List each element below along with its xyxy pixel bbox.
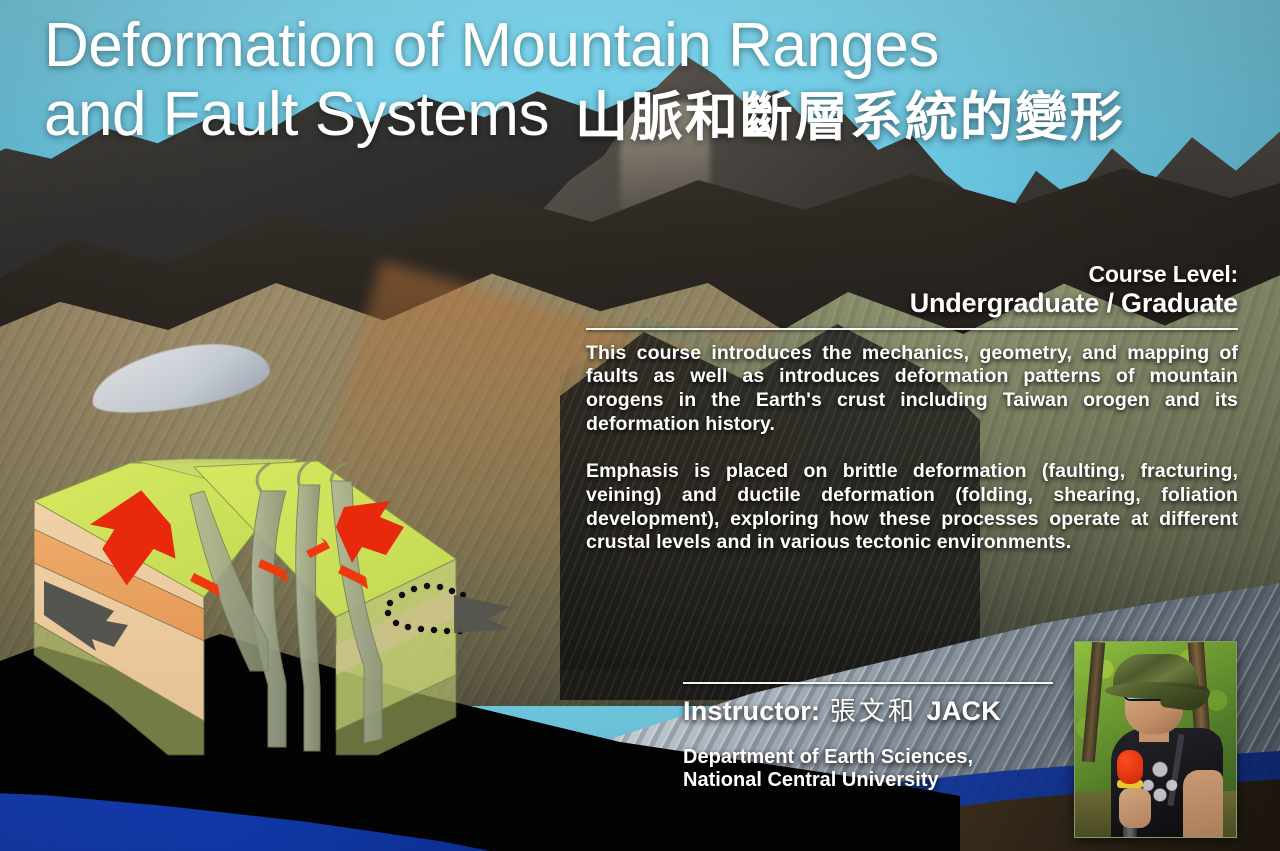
department-block: Department of Earth Sciences, National C… <box>683 746 1053 792</box>
instructor-block: Instructor: 張文和 JACK Department of Earth… <box>683 682 1053 792</box>
instructor-photo <box>1074 641 1237 838</box>
title-chinese: 山脈和斷層系統的變形 <box>575 87 1125 148</box>
description-paragraph-1: This course introduces the mechanics, ge… <box>586 342 1238 437</box>
instructor-name-english: JACK <box>927 696 1001 726</box>
course-poster: Deformation of Mountain Ranges and Fault… <box>0 0 1280 851</box>
title-line-2-row: and Fault Systems山脈和斷層系統的變形 <box>44 83 1264 146</box>
title-line-2: and Fault Systems <box>44 80 549 149</box>
instructor-name-chinese: 張文和 <box>828 697 919 727</box>
info-divider-rule <box>586 328 1238 330</box>
course-info-panel: Course Level: Undergraduate / Graduate T… <box>586 262 1238 555</box>
photo-person-arm <box>1183 770 1223 838</box>
course-level-value: Undergraduate / Graduate <box>586 288 1238 319</box>
instructor-label: Instructor: <box>683 696 820 726</box>
instructor-divider-rule <box>683 682 1053 684</box>
fault-block-diagram <box>18 455 528 785</box>
department-line-1: Department of Earth Sciences, <box>683 746 1053 769</box>
instructor-name-row: Instructor: 張文和 JACK <box>683 691 1053 728</box>
gray-motion-arrow-right <box>454 595 510 633</box>
course-level-label: Course Level: <box>586 262 1238 288</box>
microphone-icon <box>1117 750 1143 784</box>
photo-person-hand <box>1119 788 1151 828</box>
fault-plane-2 <box>296 485 320 751</box>
course-level-block: Course Level: Undergraduate / Graduate <box>586 262 1238 319</box>
title-line-1: Deformation of Mountain Ranges <box>44 14 1264 77</box>
description-paragraph-2: Emphasis is placed on brittle deformatio… <box>586 460 1238 555</box>
poster-title: Deformation of Mountain Ranges and Fault… <box>44 14 1264 146</box>
department-line-2: National Central University <box>683 769 1053 792</box>
